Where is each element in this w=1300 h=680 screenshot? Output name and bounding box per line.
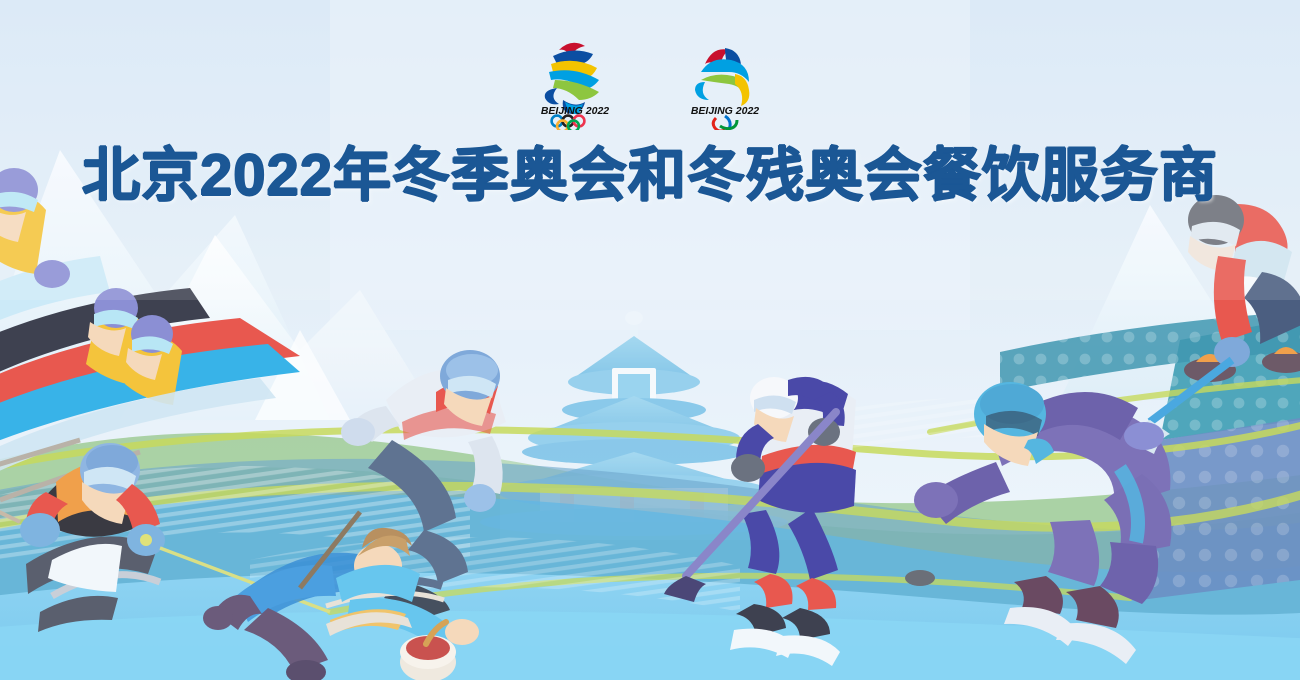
page-title: 北京2022年冬季奥会和冬残奥会餐饮服务商 <box>82 140 1218 212</box>
paralympic-wordmark: BEIJING 2022 <box>691 105 759 117</box>
page-title-wrap: 北京2022年冬季奥会和冬残奥会餐饮服务商 <box>0 140 1300 212</box>
hockey-puck <box>905 570 935 586</box>
olympic-wordmark: BEIJING 2022 <box>541 105 609 117</box>
olympic-rings-icon <box>552 116 585 130</box>
beijing-2022-catering-banner: BEIJING 2022 <box>0 0 1300 680</box>
olympic-emblem-graphic: BEIJING 2022 <box>529 30 621 130</box>
paralympic-emblem-graphic: BEIJING 2022 <box>679 30 771 130</box>
winter-dream-symbol <box>545 43 599 114</box>
emblem-row: BEIJING 2022 <box>0 30 1300 130</box>
beijing-2022-olympic-emblem: BEIJING 2022 <box>529 30 621 130</box>
paralympic-agitos-icon <box>713 116 737 130</box>
beijing-2022-paralympic-emblem: BEIJING 2022 <box>679 30 771 130</box>
flying-figure-symbol <box>695 48 749 106</box>
